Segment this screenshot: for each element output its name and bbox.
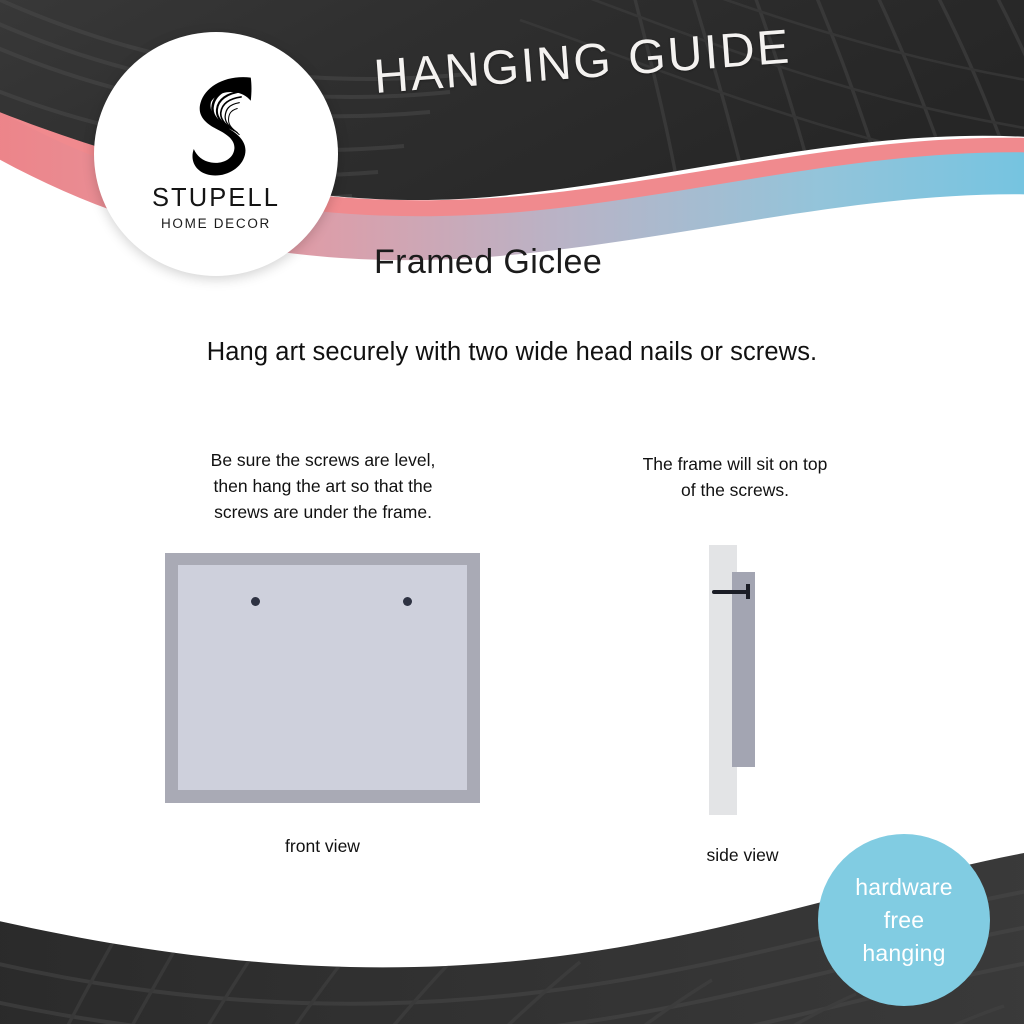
front-caption-line-3: screws are under the frame.	[152, 499, 494, 525]
front-view-diagram	[165, 553, 480, 803]
front-view-caption: Be sure the screws are level, then hang …	[152, 447, 494, 525]
side-view-diagram	[709, 545, 777, 815]
hanging-guide-page: STUPELL HOME DECOR HANGING GUIDE Framed …	[0, 0, 1024, 1024]
side-view-frame	[732, 572, 755, 767]
brand-logo-badge: STUPELL HOME DECOR	[94, 32, 338, 276]
hardware-free-hanging-badge: hardware free hanging	[818, 834, 990, 1006]
nail-shaft-icon	[712, 590, 749, 594]
front-view-mat	[178, 565, 467, 790]
badge-line-1: hardware	[855, 871, 953, 904]
front-caption-line-2: then hang the art so that the	[152, 473, 494, 499]
main-instruction-text: Hang art securely with two wide head nai…	[0, 338, 1024, 367]
front-view-label: front view	[165, 836, 480, 857]
stupell-swoosh-logo-icon	[158, 66, 274, 178]
side-caption-line-1: The frame will sit on top	[600, 451, 870, 477]
front-caption-line-1: Be sure the screws are level,	[152, 447, 494, 473]
screw-dot-left-icon	[251, 597, 260, 606]
badge-line-3: hanging	[862, 937, 945, 970]
screw-dot-right-icon	[403, 597, 412, 606]
side-view-label: side view	[665, 845, 820, 866]
page-title: HANGING GUIDE	[372, 19, 793, 104]
nail-head-icon	[746, 584, 750, 599]
product-type-label: Framed Giclee	[374, 243, 602, 282]
side-caption-line-2: of the screws.	[600, 477, 870, 503]
side-view-caption: The frame will sit on top of the screws.	[600, 451, 870, 503]
brand-subtitle: HOME DECOR	[161, 216, 271, 231]
brand-name: STUPELL	[152, 184, 280, 213]
badge-line-2: free	[884, 904, 924, 937]
